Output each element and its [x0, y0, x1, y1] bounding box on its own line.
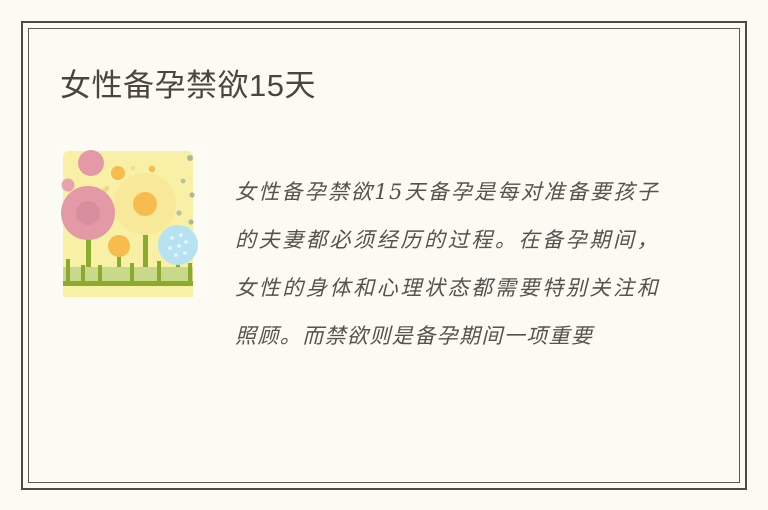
article-content: 女性备孕禁欲15天 [28, 28, 740, 483]
flower-garden-illustration [57, 145, 207, 297]
page-title: 女性备孕禁欲15天 [60, 66, 316, 106]
article-thumbnail [57, 145, 207, 297]
article-body: 女性备孕禁欲15天备孕是每对准备要孩子的夫妻都必须经历的过程。在备孕期间，女性的… [235, 168, 659, 360]
article-page: 女性备孕禁欲15天 [0, 0, 768, 510]
